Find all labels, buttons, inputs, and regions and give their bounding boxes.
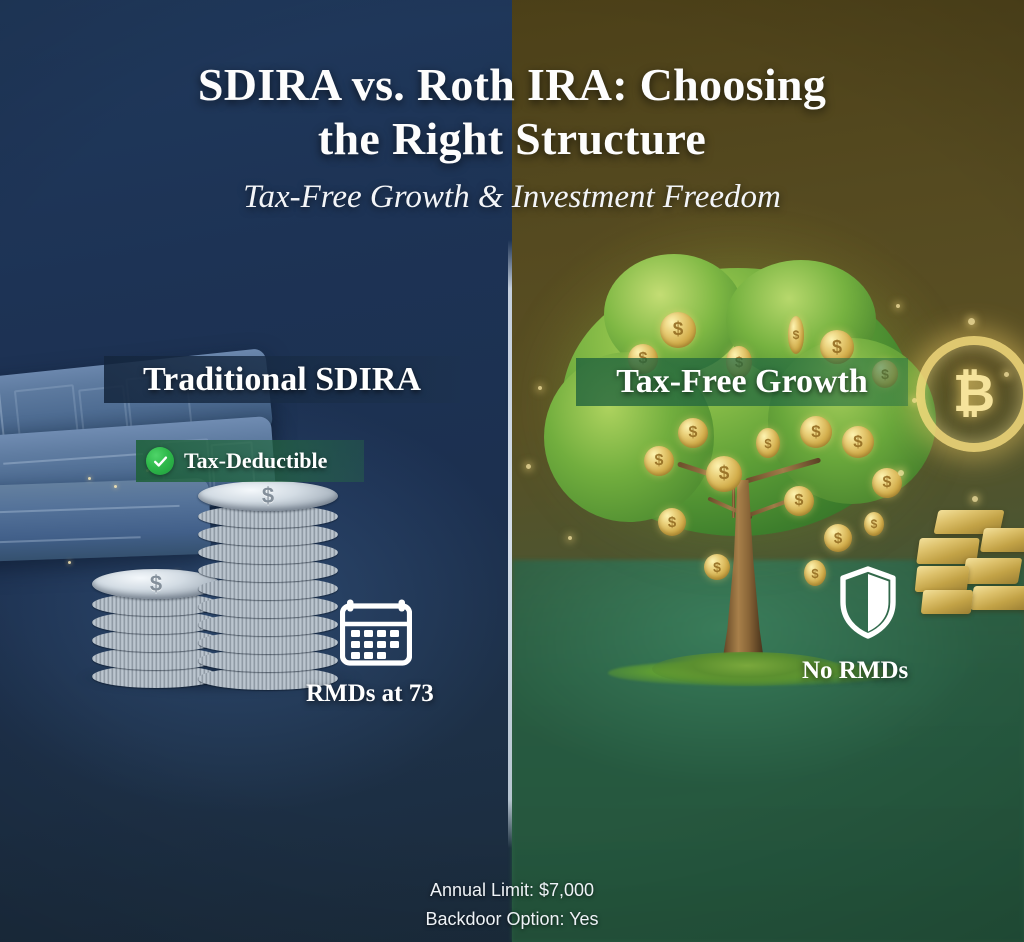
right-panel-banner: Tax-Free Growth: [576, 358, 908, 406]
check-circle-icon: [146, 447, 174, 475]
page-title-line-2: the Right Structure: [0, 112, 1024, 166]
tree-coin: $: [658, 508, 686, 536]
tree-coin: $: [824, 524, 852, 552]
tree-coin: $: [842, 426, 874, 458]
header: SDIRA vs. Roth IRA: Choosing the Right S…: [0, 58, 1024, 216]
tree-coin: $: [864, 512, 884, 536]
infographic-canvas: $ $ $ $ $ $: [0, 0, 1024, 942]
tree-coin: $: [756, 428, 780, 458]
rmds-at-73-label: RMDs at 73: [306, 680, 434, 708]
shield-icon: [838, 566, 898, 640]
no-rmds-label: No RMDs: [802, 657, 908, 685]
page-title-line-1: SDIRA vs. Roth IRA: Choosing: [0, 58, 1024, 112]
left-panel-banner: Traditional SDIRA: [104, 356, 460, 403]
tall-coin-stack: $: [198, 485, 338, 691]
footer-backdoor-option: Backdoor Option: Yes: [0, 905, 1024, 934]
bitcoin-icon: ₿: [916, 336, 1024, 452]
tax-deductible-badge-label: Tax-Deductible: [184, 448, 327, 474]
tree-coin: $: [678, 418, 708, 448]
coin-face-dollar: $: [198, 481, 338, 511]
page-subtitle: Tax-Free Growth & Investment Freedom: [0, 179, 1024, 216]
tree-coin: $: [644, 446, 674, 476]
tree-coin: $: [800, 416, 832, 448]
tax-deductible-badge: Tax-Deductible: [136, 440, 364, 482]
page-title: SDIRA vs. Roth IRA: Choosing the Right S…: [0, 58, 1024, 167]
center-divider: [508, 240, 512, 848]
tree-coin: $: [804, 560, 826, 586]
calendar-icon: [340, 598, 412, 666]
footer: Annual Limit: $7,000 Backdoor Option: Ye…: [0, 876, 1024, 934]
tree-coin: $: [704, 554, 730, 580]
tree-coin: $: [784, 486, 814, 516]
tree-coin: $: [706, 456, 742, 492]
gold-bars-illustration: [916, 500, 1024, 620]
footer-annual-limit: Annual Limit: $7,000: [0, 876, 1024, 905]
tree-coin: $: [788, 316, 804, 354]
tree-coin: $: [660, 312, 696, 348]
silver-coin-stacks-illustration: $ $: [92, 485, 352, 695]
